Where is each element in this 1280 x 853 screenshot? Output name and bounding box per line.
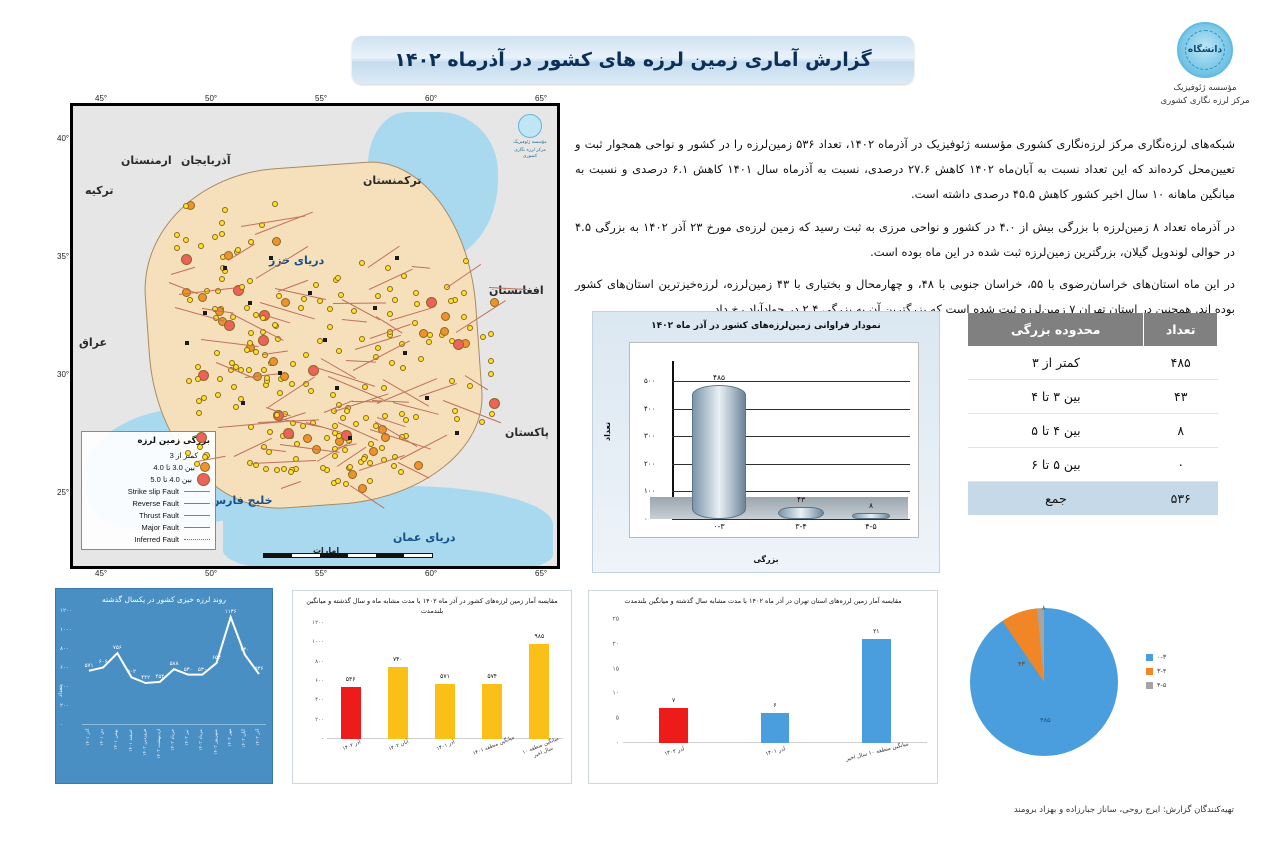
map-earthquake-marker (441, 312, 450, 321)
legend-magnitude-label: بین 3.0 تا 4.0 (153, 463, 195, 472)
country-ytick: ۲۰۰ (315, 717, 324, 723)
map-lat-tick: 40° (57, 134, 69, 143)
trend-xtick: اردیبهشت ۱۴۰۲ (157, 729, 162, 779)
map-lon-tick: 65° (535, 569, 547, 578)
map-earthquake-marker (375, 293, 381, 299)
tehran-ytick: ۱۰ (613, 690, 619, 697)
map-earthquake-marker (229, 360, 235, 366)
map-earthquake-marker (418, 356, 424, 362)
page-title-bar: گزارش آماری زمین لرزه های کشور در آذرماه… (352, 36, 914, 84)
frequency-bar: ۴۸۵ (692, 385, 746, 519)
country-comparison-title: مقایسه آمار زمین لرزه‌های کشور در آذر ما… (301, 596, 563, 616)
trend-xtick: فروردین ۱۴۰۲ (143, 729, 148, 779)
trend-xtick: تیر ۱۴۰۲ (185, 729, 190, 779)
map-earthquake-marker (387, 286, 393, 292)
map-earthquake-marker (269, 357, 278, 366)
map-lat-tick: 25° (57, 488, 69, 497)
legend-fault-row: Reverse Fault (87, 497, 210, 509)
map-seal-icon: مؤسسه ژئوفیزیک مرکز لرزه نگاری کشوری (511, 114, 549, 160)
country-label-iraq: عراق (79, 336, 107, 349)
country-label-turkmenistan: ترکمنستان (363, 174, 421, 187)
map-earthquake-marker (217, 376, 223, 382)
trend-line-path (82, 611, 266, 725)
trend-xtick: دی ۱۴۰۱ (100, 729, 105, 779)
map-earthquake-marker (489, 398, 500, 409)
map-earthquake-marker (338, 292, 344, 298)
country-bar: ۹۸۵ (529, 644, 549, 739)
map-earthquake-marker (320, 465, 326, 471)
pie-slice-value: ۴۳ (1018, 660, 1025, 668)
legend-fault-label: Inferred Fault (134, 535, 179, 544)
map-earthquake-marker (335, 478, 341, 484)
table-row: ۸بین ۴ تا ۵ (968, 414, 1218, 448)
map-earthquake-marker (330, 392, 336, 398)
pie-shape (970, 608, 1118, 756)
table-cell-range: بین ۵ تا ۶ (968, 448, 1144, 482)
map-earthquake-marker (467, 383, 473, 389)
yearly-trend-plot: ۰۲۰۰۴۰۰۶۰۰۸۰۰۱۰۰۰۱۲۰۰۵۷۱۶۰۶۷۵۶۵۰۲۴۴۲۴۵۴۵… (82, 611, 266, 725)
map-earthquake-marker (261, 367, 267, 373)
table-cell-count: ۴۸۵ (1144, 346, 1218, 380)
map-earthquake-marker (219, 276, 225, 282)
map-city-marker (455, 431, 459, 435)
country-bar: ۷۴۰ (388, 667, 408, 739)
map-earthquake-marker (303, 434, 312, 443)
map-city-marker (203, 311, 207, 315)
university-seal-icon: دانشگاه (1177, 22, 1233, 78)
map-earthquake-marker (290, 361, 296, 367)
map-earthquake-marker (359, 260, 365, 266)
tehran-comparison-chart[interactable]: مقایسه آمار زمین لرزه‌های استان تهران در… (588, 590, 938, 784)
map-earthquake-marker (348, 470, 357, 479)
legend-fault-label: Reverse Fault (132, 499, 179, 508)
table-cell-count: ۴۳ (1144, 380, 1218, 414)
legend-fault-label: Strike slip Fault (128, 487, 179, 496)
trend-ytick: ۲۰۰ (60, 703, 69, 709)
map-seal-line2: مرکز لرزه نگاری کشوری (511, 148, 549, 160)
tehran-bar-value: ۲۱ (873, 628, 879, 635)
map-earthquake-marker (274, 467, 280, 473)
map-city-marker (248, 301, 252, 305)
seismicity-map[interactable]: دریای خزر خلیج فارس دریای عمان ترکیه ارم… (70, 103, 560, 569)
tehran-ytick: ۱۵ (613, 665, 619, 672)
legend-magnitude-row: کمتر از 3 (87, 449, 210, 461)
map-city-marker (425, 396, 429, 400)
trend-xtick: آذر ۱۴۰۲ (256, 729, 261, 779)
frequency-ytick: ۱۰۰ (644, 487, 670, 495)
country-bar-value: ۷۴۰ (393, 656, 403, 663)
map-earthquake-marker (212, 234, 218, 240)
trend-ytick: ۱۲۰۰ (60, 608, 72, 614)
paragraph-2: در آذرماه تعداد ۸ زمین‌لرزه با بزرگی بیش… (575, 215, 1235, 265)
map-lon-tick: 45° (95, 569, 107, 578)
report-page: گزارش آماری زمین لرزه های کشور در آذرماه… (0, 0, 1280, 853)
map-earthquake-marker (480, 334, 486, 340)
trend-xtick: اسفند ۱۴۰۱ (129, 729, 134, 779)
map-city-marker (395, 256, 399, 260)
table-header-range: محدوده بزرگی (968, 313, 1144, 346)
map-earthquake-marker (324, 435, 330, 441)
map-city-marker (223, 266, 227, 270)
pie-legend: ۰-۳۳-۴۴-۵ (1146, 650, 1166, 692)
tehran-bar: ۶ (761, 713, 789, 743)
trend-point-value: ۵۰۲ (127, 669, 136, 675)
pie-legend-swatch (1146, 668, 1153, 675)
legend-fault-row: Inferred Fault (87, 533, 210, 545)
frequency-xtick: ۴-۵ (846, 522, 896, 531)
legend-dot-icon (197, 473, 210, 486)
tehran-comparison-title: مقایسه آمار زمین لرزه‌های استان تهران در… (599, 597, 927, 605)
frequency-ytick: ۴۰۰ (644, 405, 670, 413)
country-bar-value: ۵۳۶ (346, 676, 356, 683)
map-earthquake-marker (427, 332, 433, 338)
map-lat-tick: 30° (57, 370, 69, 379)
map-earthquake-marker (379, 445, 385, 451)
map-lon-tick: 55° (315, 569, 327, 578)
map-earthquake-marker (258, 335, 269, 346)
frequency-ytick: ۳۰۰ (644, 432, 670, 440)
map-legend: بزرگی زمین لرزه کمتر از 3بین 3.0 تا 4.0ب… (81, 431, 216, 550)
map-earthquake-marker (361, 456, 367, 462)
frequency-chart-xlabel: بزرگی (593, 555, 939, 564)
legend-fault-line-icon (184, 515, 210, 516)
org-subname: مرکز لرزه نگاری کشوری (1135, 95, 1275, 108)
map-earthquake-marker (246, 367, 252, 373)
map-earthquake-marker (375, 345, 381, 351)
pie-legend-row: ۰-۳ (1146, 650, 1166, 664)
map-lon-tick: 65° (535, 94, 547, 103)
map-lon-ticks-top: 45°50°55°60°65° (73, 95, 557, 103)
legend-dot-icon (200, 462, 210, 472)
frequency-xtick: ۳-۴ (772, 522, 830, 531)
country-bar: ۵۷۴ (482, 684, 502, 739)
legend-fault-row: Major Fault (87, 521, 210, 533)
map-earthquake-marker (283, 428, 294, 439)
trend-point-value: ۵۳۰ (184, 667, 193, 673)
frequency-bar: ۸ (852, 513, 890, 519)
legend-fault-line-icon (184, 527, 210, 528)
legend-fault-line-icon (184, 539, 210, 540)
organization-block: دانشگاه مؤسسه ژئوفیزیک مرکز لرزه نگاری ک… (1135, 22, 1275, 108)
country-label-armenia: ارمنستان (121, 154, 172, 167)
frequency-ytick: ۵۰۰ (644, 377, 670, 385)
map-seal-line1: مؤسسه ژئوفیزیک (511, 140, 549, 146)
legend-magnitude-row: بین 3.0 تا 4.0 (87, 461, 210, 473)
tehran-ytick: ۰ (616, 740, 619, 747)
country-bar: ۵۷۱ (435, 684, 455, 739)
frequency-chart[interactable]: نمودار فراوانی زمین‌لرزه‌های کشور در آذر… (592, 311, 940, 573)
tehran-ytick: ۲۵ (613, 616, 619, 623)
country-ytick: ۱۰۰۰ (312, 639, 324, 645)
pie-legend-label: ۰-۳ (1157, 653, 1166, 661)
legend-fault-row: Thrust Fault (87, 509, 210, 521)
map-earthquake-marker (327, 324, 333, 330)
trend-ytick: ۸۰۰ (60, 646, 69, 652)
trend-point-value: ۵۳۶ (255, 666, 264, 672)
legend-magnitude-label: بین 4.0 تا 5.0 (150, 475, 192, 484)
map-earthquake-marker (367, 478, 373, 484)
map-lat-tick: 35° (57, 252, 69, 261)
table-row: ۴۸۵کمتر از ۳ (968, 346, 1218, 380)
country-ytick: ۰ (321, 736, 324, 742)
frequency-chart-title: نمودار فراوانی زمین‌لرزه‌های کشور در آذر… (593, 321, 939, 331)
trend-ytick: ۶۰۰ (60, 665, 69, 671)
paragraph-1: شبکه‌های لرزه‌نگاری مرکز لرزه‌نگاری کشور… (575, 132, 1235, 207)
trend-point-value: ۷۵۶ (113, 645, 122, 651)
map-city-marker (335, 386, 339, 390)
map-earthquake-marker (353, 421, 359, 427)
country-bar: ۵۳۶ (341, 687, 361, 739)
map-earthquake-marker (414, 301, 420, 307)
country-ytick: ۸۰۰ (315, 659, 324, 665)
map-earthquake-marker (276, 293, 282, 299)
map-earthquake-marker (403, 417, 409, 423)
trend-point-value: ۶۰۶ (99, 659, 108, 665)
map-earthquake-marker (244, 347, 250, 353)
trend-ytick: ۰ (60, 722, 63, 728)
map-earthquake-marker (301, 296, 307, 302)
map-earthquake-marker (186, 378, 192, 384)
trend-point-value: ۷۴۰ (240, 647, 249, 653)
map-scale-bar (263, 553, 433, 558)
trend-point-value: ۵۸۸ (170, 661, 179, 667)
frequency-chart-plot: ۰۱۰۰۲۰۰۳۰۰۴۰۰۵۰۰۴۸۵۰-۳۴۳۳-۴۸۴-۵ (629, 342, 919, 538)
legend-title: بزرگی زمین لرزه (87, 436, 210, 446)
map-earthquake-marker (389, 360, 395, 366)
map-earthquake-marker (351, 308, 357, 314)
trend-point-value: ۴۵۴ (155, 674, 164, 680)
map-earthquake-marker (347, 464, 353, 470)
country-comparison-chart[interactable]: مقایسه آمار زمین لرزه‌های کشور در آذر ما… (292, 590, 572, 784)
legend-fault-label: Thrust Fault (139, 511, 179, 520)
table-cell-count: ۸ (1144, 414, 1218, 448)
trend-xtick: شهریور ۱۴۰۲ (214, 729, 219, 779)
map-earthquake-marker (219, 220, 225, 226)
sea-label-gulf: خلیج فارس (211, 494, 273, 507)
map-earthquake-marker (489, 411, 495, 417)
pie-legend-label: ۴-۵ (1157, 681, 1166, 689)
legend-fault-line-icon (184, 503, 210, 504)
map-city-marker (308, 291, 312, 295)
map-earthquake-marker (263, 466, 269, 472)
map-earthquake-marker (426, 339, 432, 345)
map-earthquake-marker (453, 339, 464, 350)
trend-ytick: ۱۰۰۰ (60, 627, 72, 633)
map-earthquake-marker (488, 331, 494, 337)
country-label-afghanistan: افغانستان (489, 284, 544, 297)
trend-xtick: خرداد ۱۴۰۲ (171, 729, 176, 779)
country-bar-value: ۵۷۱ (440, 673, 450, 680)
legend-fault-line-icon (184, 491, 210, 492)
pie-legend-label: ۳-۴ (1157, 667, 1166, 675)
map-earthquake-marker (196, 410, 202, 416)
map-earthquake-marker (197, 444, 203, 450)
map-earthquake-marker (183, 203, 189, 209)
map-earthquake-marker (281, 298, 290, 307)
map-earthquake-marker (174, 245, 180, 251)
trend-xtick: مرداد ۱۴۰۲ (199, 729, 204, 779)
pie-legend-swatch (1146, 654, 1153, 661)
table-total-row: ۵۳۶جمع (968, 482, 1218, 516)
map-earthquake-marker (419, 329, 428, 338)
org-name: مؤسسه ژئوفیزیک (1135, 82, 1275, 95)
map-lon-tick: 60° (425, 569, 437, 578)
table-total-label: جمع (968, 482, 1144, 516)
map-earthquake-marker (342, 447, 348, 453)
yearly-trend-chart[interactable]: روند لرزه خیزی کشور در یکسال گذشته تعداد… (55, 588, 273, 784)
map-earthquake-marker (335, 275, 341, 281)
map-earthquake-marker (224, 320, 235, 331)
country-comparison-plot: ۰۲۰۰۴۰۰۶۰۰۸۰۰۱۰۰۰۱۲۰۰۵۳۶۷۴۰۵۷۱۵۷۴۹۸۵ (327, 623, 563, 739)
map-earthquake-marker (264, 375, 270, 381)
pie-slice-value: ۴۸۵ (1040, 716, 1050, 724)
tehran-ytick: ۲۰ (613, 640, 619, 647)
map-earthquake-marker (195, 376, 201, 382)
legend-magnitude-row: بین 4.0 تا 5.0 (87, 473, 210, 485)
map-lon-tick: 45° (95, 94, 107, 103)
map-earthquake-marker (187, 297, 193, 303)
map-earthquake-marker (479, 419, 485, 425)
map-earthquake-marker (398, 469, 404, 475)
trend-xtick: مهر ۱۴۰۲ (228, 729, 233, 779)
pie-legend-row: ۴-۵ (1146, 678, 1166, 692)
map-lon-tick: 60° (425, 94, 437, 103)
trend-xtick: بهمن ۱۴۰۱ (114, 729, 119, 779)
map-earthquake-marker (344, 408, 350, 414)
table-cell-range: بین ۳ تا ۴ (968, 380, 1144, 414)
country-ytick: ۴۰۰ (315, 697, 324, 703)
trend-ytick: ۴۰۰ (60, 684, 69, 690)
trend-point-value: ۱۱۳۶ (225, 609, 237, 615)
map-earthquake-marker (363, 415, 369, 421)
frequency-bar-value: ۴۳ (779, 495, 823, 504)
trend-point-value: ۴۴۲ (141, 675, 150, 681)
yearly-trend-title: روند لرزه خیزی کشور در یکسال گذشته (56, 595, 272, 604)
table-row: ۴۳بین ۳ تا ۴ (968, 380, 1218, 414)
map-earthquake-marker (461, 314, 467, 320)
map-lon-tick: 50° (205, 569, 217, 578)
map-earthquake-marker (426, 297, 437, 308)
map-earthquake-marker (461, 290, 467, 296)
map-earthquake-marker (247, 278, 253, 284)
map-lon-ticks-bottom: 45°50°55°60°65° (73, 569, 557, 577)
table-total-count: ۵۳۶ (1144, 482, 1218, 516)
map-earthquake-marker (452, 408, 458, 414)
tehran-ytick: ۵ (616, 715, 619, 722)
table-header-row: تعداد محدوده بزرگی (968, 313, 1218, 346)
table-cell-count: ۰ (1144, 448, 1218, 482)
table-row: ۰بین ۵ تا ۶ (968, 448, 1218, 482)
pie-legend-swatch (1146, 682, 1153, 689)
country-label-turkey: ترکیه (85, 184, 114, 197)
magnitude-pie-chart[interactable]: ۴۸۵۴۳۸ ۰-۳۳-۴۴-۵ (960, 598, 1230, 788)
frequency-xtick: ۰-۳ (686, 522, 752, 531)
tehran-bar: ۷ (659, 708, 687, 743)
report-credits: تهیه‌کنندگان گزارش: ایرج روحی، ساناز جبا… (1014, 805, 1234, 815)
tehran-bar-value: ۶ (773, 702, 776, 709)
map-lon-tick: 55° (315, 94, 327, 103)
legend-fault-label: Major Fault (141, 523, 179, 532)
frequency-bar-value: ۴۸۵ (693, 373, 745, 382)
map-canvas: دریای خزر خلیج فارس دریای عمان ترکیه ارم… (73, 106, 557, 566)
map-earthquake-marker (277, 390, 283, 396)
map-earthquake-marker (413, 290, 419, 296)
frequency-ytick: ۲۰۰ (644, 460, 670, 468)
map-earthquake-marker (215, 392, 221, 398)
tehran-comparison-plot: ۰۵۱۰۱۵۲۰۲۵۷۶۲۱ (623, 619, 927, 743)
trend-point-value: ۵۷۱ (85, 663, 94, 669)
map-earthquake-marker (448, 298, 454, 304)
map-city-marker (278, 371, 282, 375)
map-earthquake-marker (412, 320, 418, 326)
map-earthquake-marker (195, 364, 201, 370)
page-title: گزارش آماری زمین لرزه های کشور در آذرماه… (394, 49, 871, 71)
map-city-marker (269, 256, 273, 260)
country-label-azerbaijan: آذربایجان (181, 154, 231, 167)
map-earthquake-marker (488, 371, 494, 377)
magnitude-table[interactable]: تعداد محدوده بزرگی ۴۸۵کمتر از ۳۴۳بین ۳ ت… (968, 313, 1218, 515)
map-earthquake-marker (336, 433, 342, 439)
frequency-ytick: ۰ (644, 515, 670, 523)
tehran-bar-value: ۷ (672, 697, 675, 704)
sea-label-oman: دریای عمان (393, 531, 456, 544)
map-city-marker (185, 341, 189, 345)
legend-fault-row: Strike slip Fault (87, 485, 210, 497)
trend-xtick: آذر ۱۴۰۱ (86, 729, 91, 779)
map-earthquake-marker (414, 461, 423, 470)
map-city-marker (241, 401, 245, 405)
country-ytick: ۶۰۰ (315, 678, 324, 684)
map-earthquake-marker (463, 258, 469, 264)
country-ytick: ۱۲۰۰ (312, 620, 324, 626)
country-bar-value: ۵۷۴ (487, 673, 497, 680)
frequency-gridline (672, 519, 910, 520)
frequency-bar-value: ۸ (853, 501, 889, 510)
frequency-chart-ylabel: تعداد (603, 422, 612, 441)
country-bar-value: ۹۸۵ (535, 633, 545, 640)
trend-xtick: آبان ۱۴۰۲ (242, 729, 247, 779)
map-city-marker (348, 436, 352, 440)
seal-text: دانشگاه (1179, 24, 1231, 76)
legend-magnitude-label: کمتر از 3 (170, 451, 198, 460)
map-earthquake-marker (198, 293, 207, 302)
map-earthquake-marker (391, 463, 397, 469)
map-city-marker (373, 306, 377, 310)
trend-point-value: ۵۳۰ (198, 667, 207, 673)
country-label-pakistan: پاکستان (505, 426, 549, 439)
tehran-bar: ۲۱ (862, 639, 890, 743)
map-earthquake-marker (332, 423, 338, 429)
table-cell-range: کمتر از ۳ (968, 346, 1144, 380)
table-header-count: تعداد (1144, 313, 1218, 346)
table-cell-range: بین ۴ تا ۵ (968, 414, 1144, 448)
map-earthquake-marker (298, 305, 304, 311)
map-city-marker (323, 338, 327, 342)
map-lon-tick: 50° (205, 94, 217, 103)
pie-slice-value: ۸ (1042, 604, 1046, 612)
trend-point-value: ۶۵۲ (212, 655, 221, 661)
map-city-marker (403, 351, 407, 355)
map-earthquake-marker (488, 358, 494, 364)
frequency-bar: ۴۳ (778, 507, 824, 519)
pie-legend-row: ۳-۴ (1146, 664, 1166, 678)
